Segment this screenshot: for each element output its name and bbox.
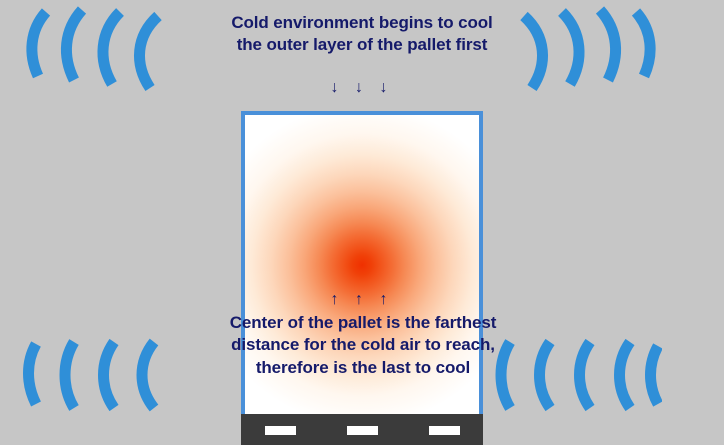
cold-air-waves-bottom-right-icon xyxy=(492,336,662,416)
diagram-canvas: Cold environment begins to cool the oute… xyxy=(0,0,724,445)
cold-air-waves-bottom-left-icon xyxy=(20,336,180,416)
top-caption: Cold environment begins to cool the oute… xyxy=(222,12,502,57)
down-arrows-icon: ↓ ↓ ↓ xyxy=(222,77,502,98)
pallet-slot xyxy=(265,426,296,435)
cold-air-waves-top-left-icon xyxy=(24,6,174,101)
pallet-illustration xyxy=(241,111,483,445)
pallet-slot xyxy=(429,426,460,435)
pallet-base xyxy=(241,414,483,445)
cold-air-waves-top-right-icon xyxy=(508,6,658,101)
pallet-slot xyxy=(347,426,378,435)
up-arrows-icon: ↑ ↑ ↑ xyxy=(222,289,502,310)
bottom-caption: Center of the pallet is the farthest dis… xyxy=(222,312,504,379)
